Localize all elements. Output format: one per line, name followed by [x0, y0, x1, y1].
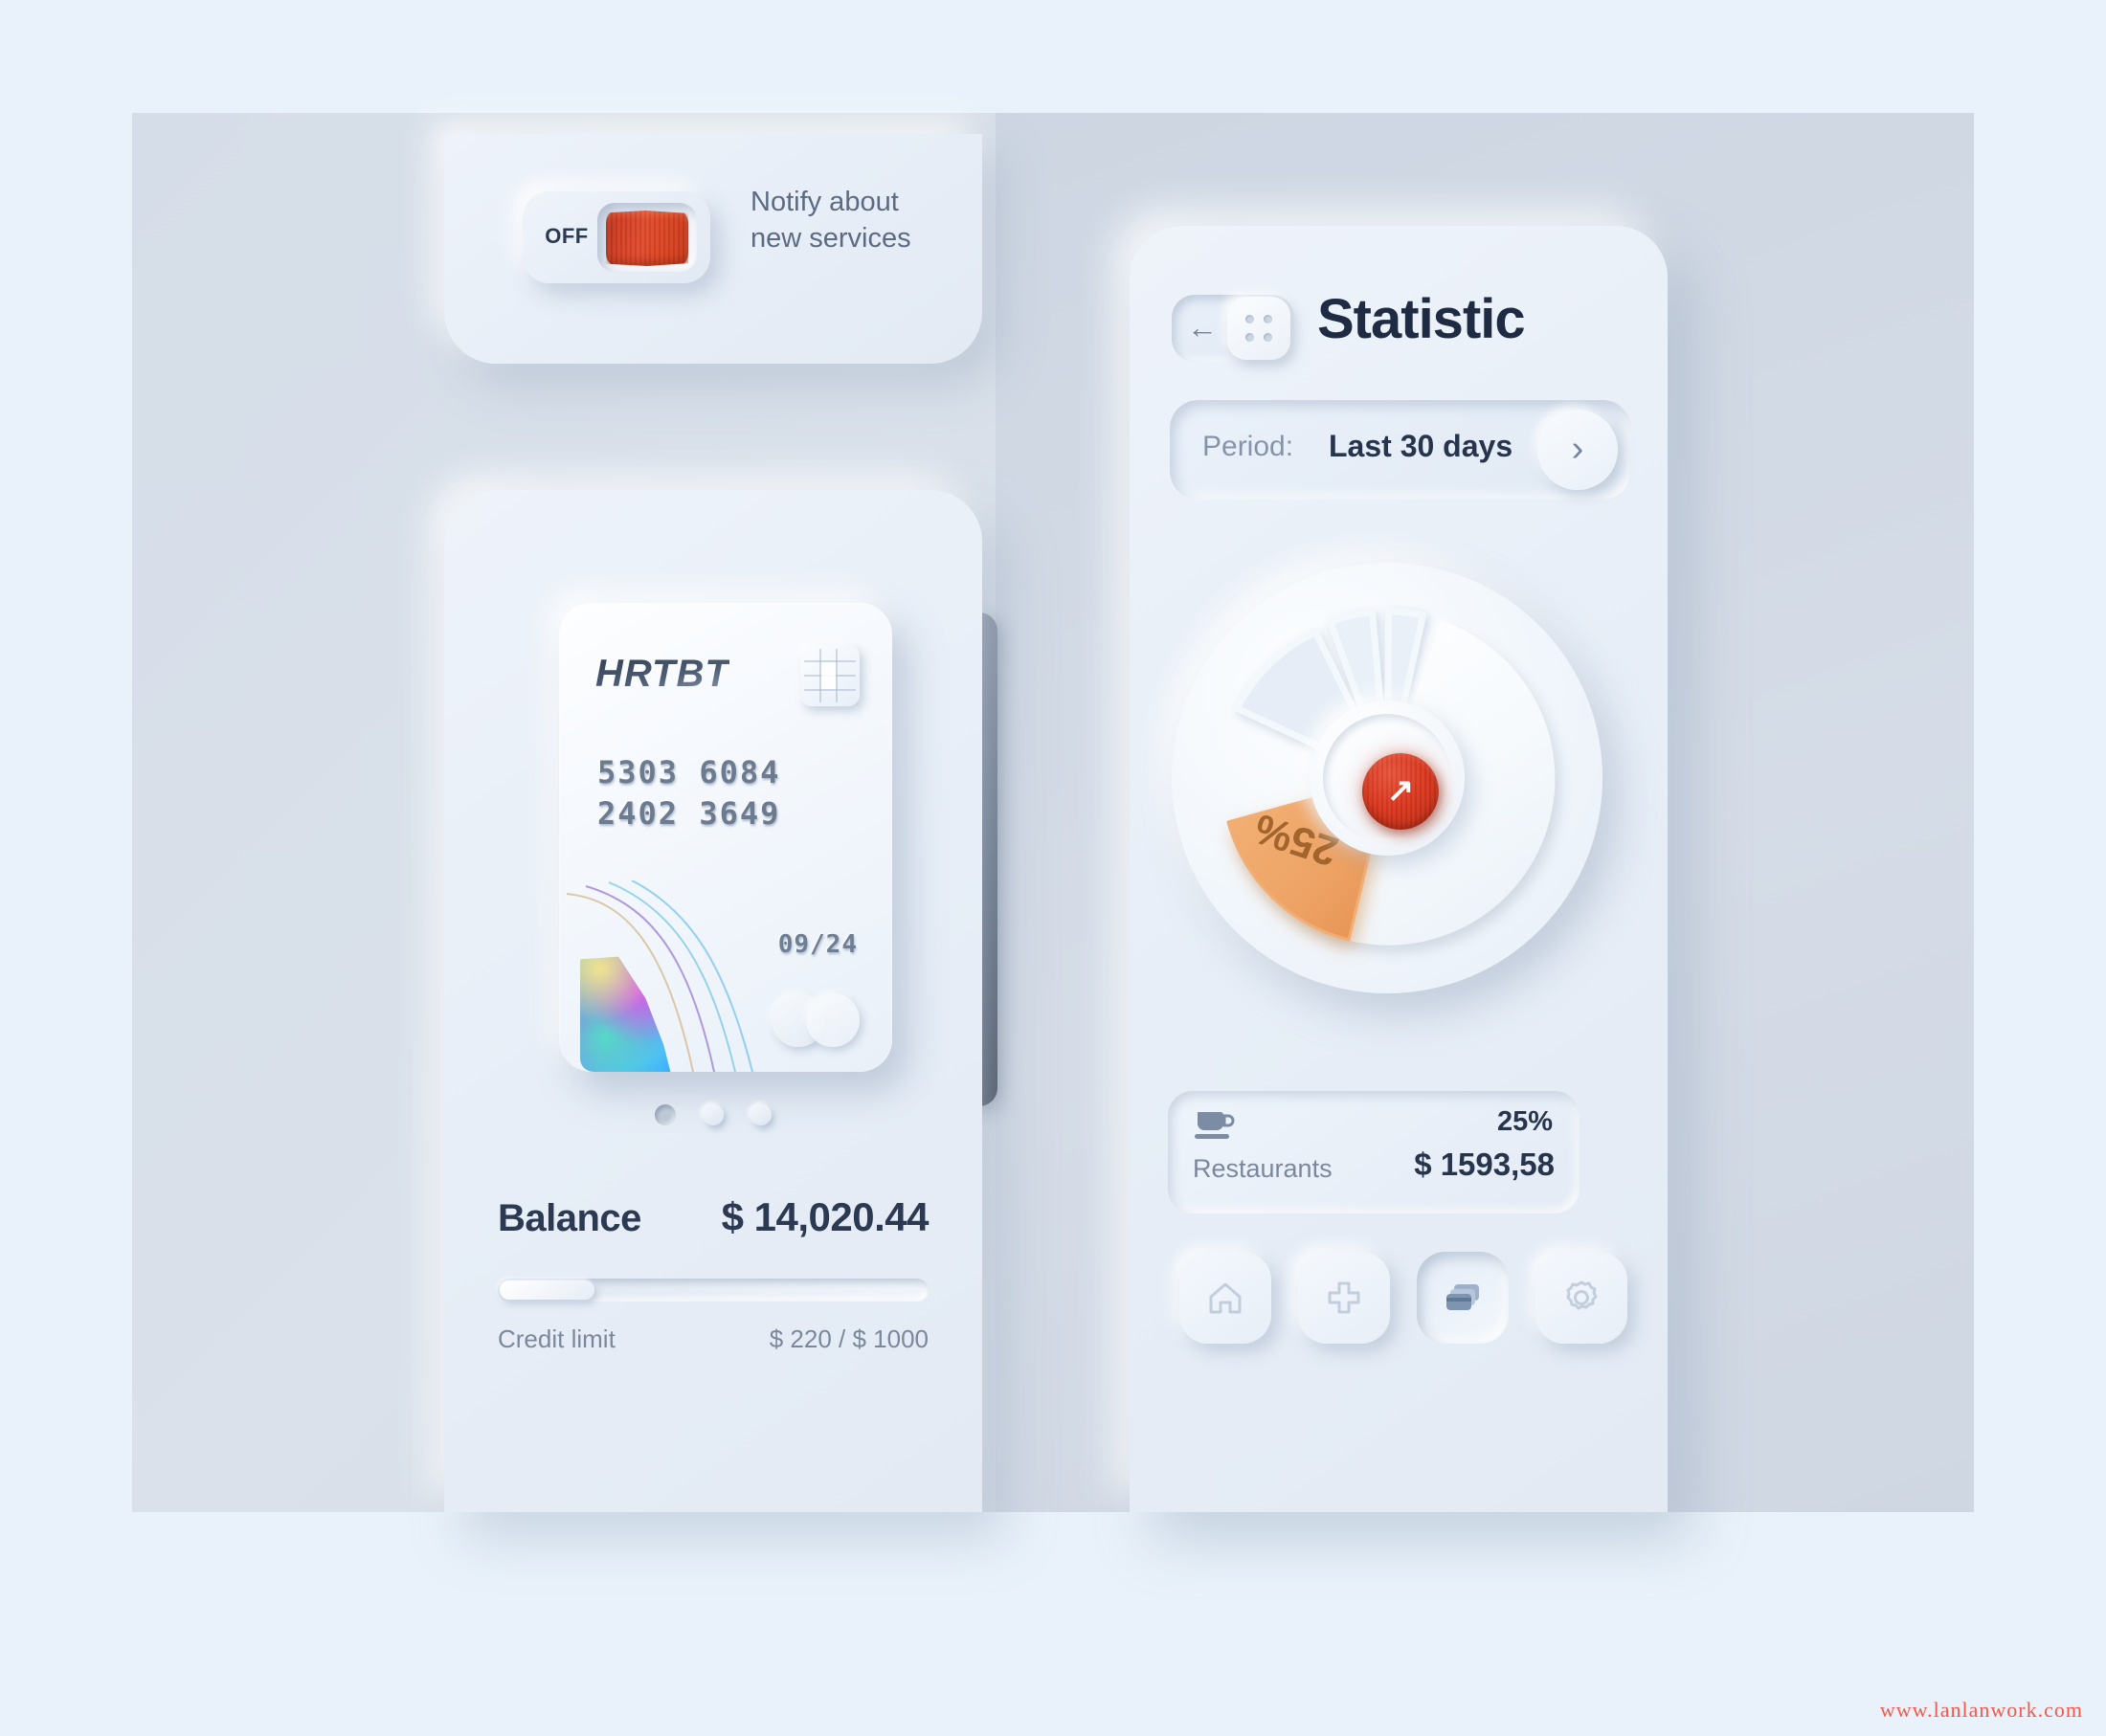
period-value: Last 30 days — [1329, 429, 1512, 464]
bottom-navigation — [1154, 1252, 1643, 1357]
credit-progress-fill — [500, 1280, 594, 1300]
notify-switch[interactable]: OFF — [523, 191, 710, 283]
chevron-right-icon[interactable]: › — [1537, 410, 1618, 490]
card-number: 5303 6084 2402 3649 — [597, 752, 856, 835]
notify-toggle-card: OFF Notify about new services — [444, 134, 982, 364]
balance-label: Balance — [498, 1197, 641, 1240]
home-icon — [1202, 1275, 1248, 1321]
arrow-left-icon[interactable]: ← — [1187, 314, 1220, 343]
credit-progress-bar — [498, 1279, 929, 1302]
legend-percent: 25% — [1497, 1106, 1553, 1138]
plus-icon — [1321, 1275, 1367, 1321]
gear-icon — [1558, 1275, 1604, 1321]
credit-card[interactable]: HRTBT 5303 6084 2402 3649 09/24 — [559, 603, 892, 1072]
hub-inner-ring: ↗ — [1323, 714, 1451, 842]
card-expiry: 09/24 — [778, 930, 858, 959]
carousel-dot[interactable] — [751, 1104, 772, 1125]
nav-button-home[interactable] — [1179, 1252, 1271, 1344]
emv-chip-icon — [800, 645, 860, 706]
cards-stack-icon — [1440, 1275, 1486, 1321]
grid-dots-icon[interactable] — [1227, 297, 1290, 360]
balance-value: $ 14,020.44 — [722, 1194, 929, 1240]
carousel-dot[interactable] — [703, 1104, 724, 1125]
legend-category-name: Restaurants — [1193, 1154, 1333, 1184]
period-label: Period: — [1202, 431, 1293, 463]
card-carousel-dots[interactable] — [444, 1104, 982, 1127]
donut-hub: ↗ — [1310, 701, 1465, 856]
statistic-screen: ← Statistic Period: Last 30 days › — [1130, 226, 1668, 1512]
credit-limit-row: Credit limit $ 220 / $ 1000 — [498, 1324, 929, 1354]
page-title: Statistic — [1317, 287, 1525, 351]
header-nav-pill: ← — [1172, 295, 1294, 362]
credit-limit-value: $ 220 / $ 1000 — [770, 1324, 929, 1354]
period-selector[interactable]: Period: Last 30 days › — [1170, 400, 1631, 500]
switch-track — [597, 203, 697, 272]
card-screen: HRTBT 5303 6084 2402 3649 09/24 — [444, 490, 982, 1512]
carousel-dot[interactable] — [655, 1104, 676, 1125]
switch-state-label: OFF — [542, 224, 592, 249]
nav-button-settings[interactable] — [1535, 1252, 1627, 1344]
toggle-row: OFF Notify about new services — [444, 134, 982, 364]
switch-knob[interactable] — [606, 211, 688, 266]
legend-card-restaurants[interactable]: Restaurants 25% $ 1593,58 — [1168, 1091, 1579, 1213]
nav-button-add[interactable] — [1298, 1252, 1390, 1344]
legend-amount: $ 1593,58 — [1414, 1146, 1555, 1183]
mastercard-icon — [772, 993, 860, 1047]
coffee-cup-icon — [1195, 1108, 1237, 1143]
card-flow-lines — [559, 880, 779, 1072]
card-brand-label: HRTBT — [595, 653, 729, 696]
spending-donut-chart[interactable]: 25% ↗ — [1162, 553, 1612, 1003]
watermark: www.lanlanwork.com — [1880, 1698, 2083, 1723]
screenshot-root: OFF Notify about new services HRTBT 5303… — [0, 0, 2106, 1736]
credit-limit-label: Credit limit — [498, 1324, 616, 1354]
arrow-up-right-icon[interactable]: ↗ — [1362, 753, 1439, 830]
notify-description: Notify about new services — [751, 184, 971, 257]
nav-button-cards[interactable] — [1417, 1252, 1509, 1344]
balance-row: Balance $ 14,020.44 — [498, 1194, 929, 1240]
